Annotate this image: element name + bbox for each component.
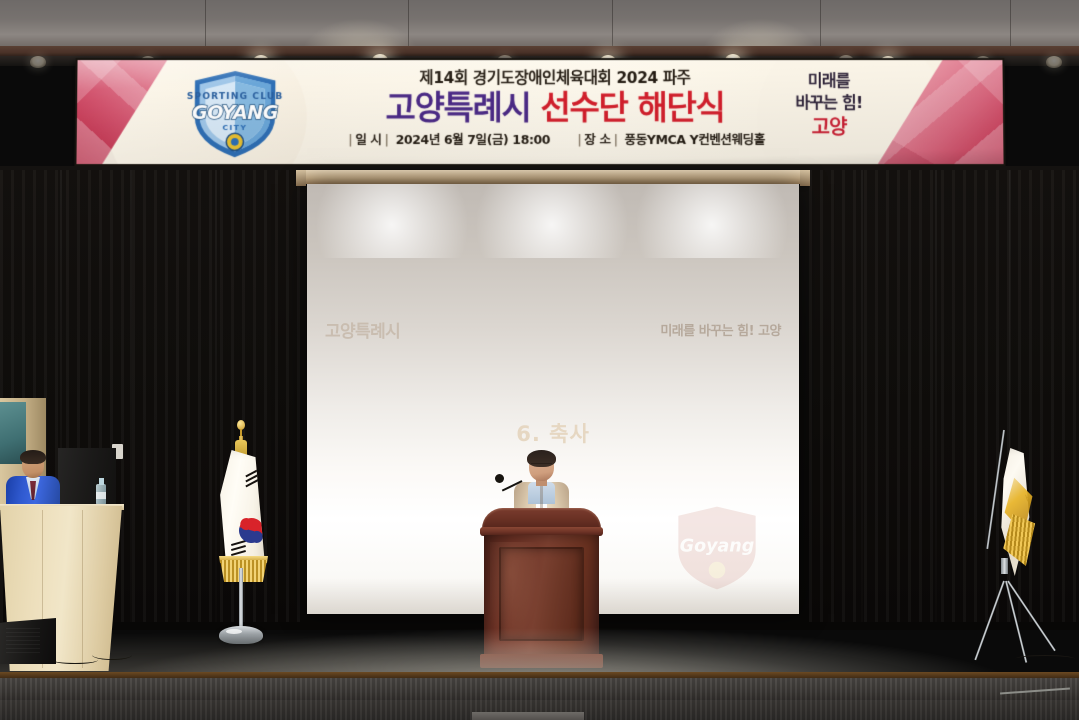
water-bottle-label	[96, 492, 106, 499]
speaker-cable	[92, 650, 132, 660]
floor-plate	[472, 712, 584, 720]
flag-fringe	[218, 560, 269, 582]
stage-floor	[0, 614, 1079, 676]
floor-cable	[1015, 655, 1075, 663]
screen-valance-cap	[296, 170, 306, 186]
screen-light-hotspot	[637, 184, 787, 258]
banner-info-row: |일 시| 2024년 6월 7일(금) 18:00 |장 소| 풍동YMCA …	[305, 128, 805, 148]
banner-title: 고양특례시 선수단 해단식	[305, 88, 805, 128]
stage-photograph: SPORTING CLUB GOYANG CITY 제14회 경기도장애인체육대…	[0, 0, 1079, 720]
banner-slogan: 미래를 바꾸는 힘! 고양	[759, 70, 899, 140]
stage-monitor-grill	[6, 628, 40, 656]
banner-slogan-line-3: 고양	[759, 114, 899, 140]
water-bottle-cap	[99, 478, 104, 485]
av-equipment-rack	[58, 448, 116, 510]
speaker-cable	[52, 656, 98, 664]
screen-light-hotspot	[317, 184, 467, 258]
ceiling-panel-seam	[820, 0, 821, 48]
goyang-sporting-club-crest-icon: SPORTING CLUB GOYANG CITY	[187, 68, 284, 160]
banner-info-datetime: |일 시| 2024년 6월 7일(금) 18:00	[345, 131, 550, 148]
tripod-hub	[1001, 558, 1008, 574]
host-hair	[20, 450, 46, 464]
ceremonial-flag-pole	[986, 430, 1005, 549]
banner-subtitle: 제14회 경기도장애인체육대회 2024 파주	[305, 64, 805, 88]
banner-info-venue: |장 소| 풍동YMCA Y컨벤션웨딩홀	[574, 131, 765, 148]
microphone-head-icon	[495, 474, 504, 483]
banner-title-city: 고양특례시	[386, 88, 531, 127]
lectern-seam	[82, 510, 83, 668]
screen-valance	[300, 170, 806, 184]
ceiling-panels	[0, 0, 1079, 48]
slide-header-left: 고양특례시	[325, 317, 400, 342]
ceiling-panel-seam	[612, 0, 613, 48]
svg-text:Goyang: Goyang	[680, 537, 754, 557]
flag-cloth	[217, 450, 269, 568]
svg-text:GOYANG: GOYANG	[192, 101, 278, 124]
slide-body-title: 6. 축사	[307, 418, 799, 448]
ceiling-panel-seam	[205, 0, 206, 48]
banner-slogan-line-2: 바꾸는 힘!	[759, 92, 899, 114]
slide-header-right: 미래를 바꾸는 힘! 고양	[660, 320, 781, 339]
ceiling-panel-seam	[1010, 0, 1011, 48]
event-banner: SPORTING CLUB GOYANG CITY 제14회 경기도장애인체육대…	[74, 58, 1005, 166]
svg-text:CITY: CITY	[222, 123, 247, 132]
banner-text-block: 제14회 경기도장애인체육대회 2024 파주 고양특례시 선수단 해단식 |일…	[305, 64, 806, 164]
banner-title-event: 선수단 해단식	[541, 88, 725, 127]
screen-valance-cap	[800, 170, 810, 186]
speaker-jacket-zip	[540, 486, 543, 510]
banner-slogan-line-1: 미래를	[759, 70, 899, 92]
speaker-glasses	[531, 463, 552, 468]
screen-light-hotspot	[477, 184, 627, 258]
slide-header: 고양특례시 미래를 바꾸는 힘! 고양	[307, 312, 799, 346]
ceiling-spotlight	[30, 56, 46, 68]
ceiling-spotlight	[1046, 56, 1062, 68]
water-bottle	[96, 478, 106, 506]
carpeted-step-upper	[0, 678, 1079, 702]
